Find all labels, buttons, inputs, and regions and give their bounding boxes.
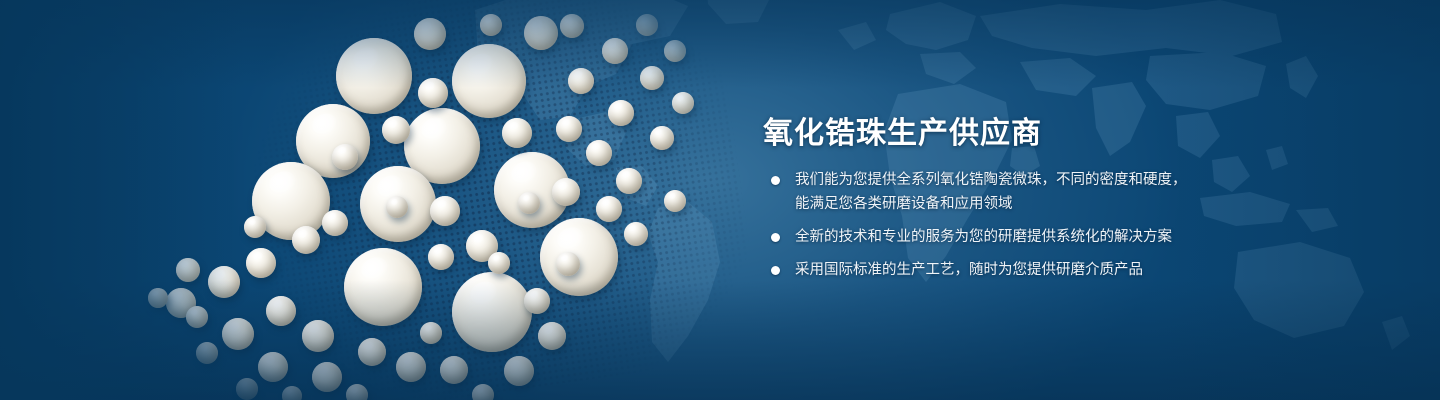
- bullet-dot-icon: [771, 266, 780, 275]
- bullet-line: 能满足您各类研磨设备和应用领域: [795, 192, 1385, 216]
- banner-headline: 氧化锆珠生产供应商: [763, 108, 1042, 152]
- product-hero-banner: 氧化锆珠生产供应商 我们能为您提供全系列氧化锆陶瓷微珠，不同的密度和硬度， 能满…: [0, 0, 1440, 400]
- feature-bullet-item: 全新的技术和专业的服务为您的研磨提供系统化的解决方案: [765, 225, 1385, 249]
- bullet-line: 采用国际标准的生产工艺，随时为您提供研磨介质产品: [795, 258, 1385, 282]
- feature-bullet-list: 我们能为您提供全系列氧化锆陶瓷微珠，不同的密度和硬度， 能满足您各类研磨设备和应…: [765, 168, 1385, 282]
- bullet-line: 全新的技术和专业的服务为您的研磨提供系统化的解决方案: [795, 225, 1385, 249]
- banner-content: 氧化锆珠生产供应商 我们能为您提供全系列氧化锆陶瓷微珠，不同的密度和硬度， 能满…: [763, 0, 1403, 400]
- bullet-dot-icon: [771, 176, 780, 185]
- feature-bullet-item: 采用国际标准的生产工艺，随时为您提供研磨介质产品: [765, 258, 1385, 282]
- feature-bullet-item: 我们能为您提供全系列氧化锆陶瓷微珠，不同的密度和硬度， 能满足您各类研磨设备和应…: [765, 168, 1385, 216]
- bullet-line: 我们能为您提供全系列氧化锆陶瓷微珠，不同的密度和硬度，: [795, 168, 1385, 192]
- bullet-dot-icon: [771, 233, 780, 242]
